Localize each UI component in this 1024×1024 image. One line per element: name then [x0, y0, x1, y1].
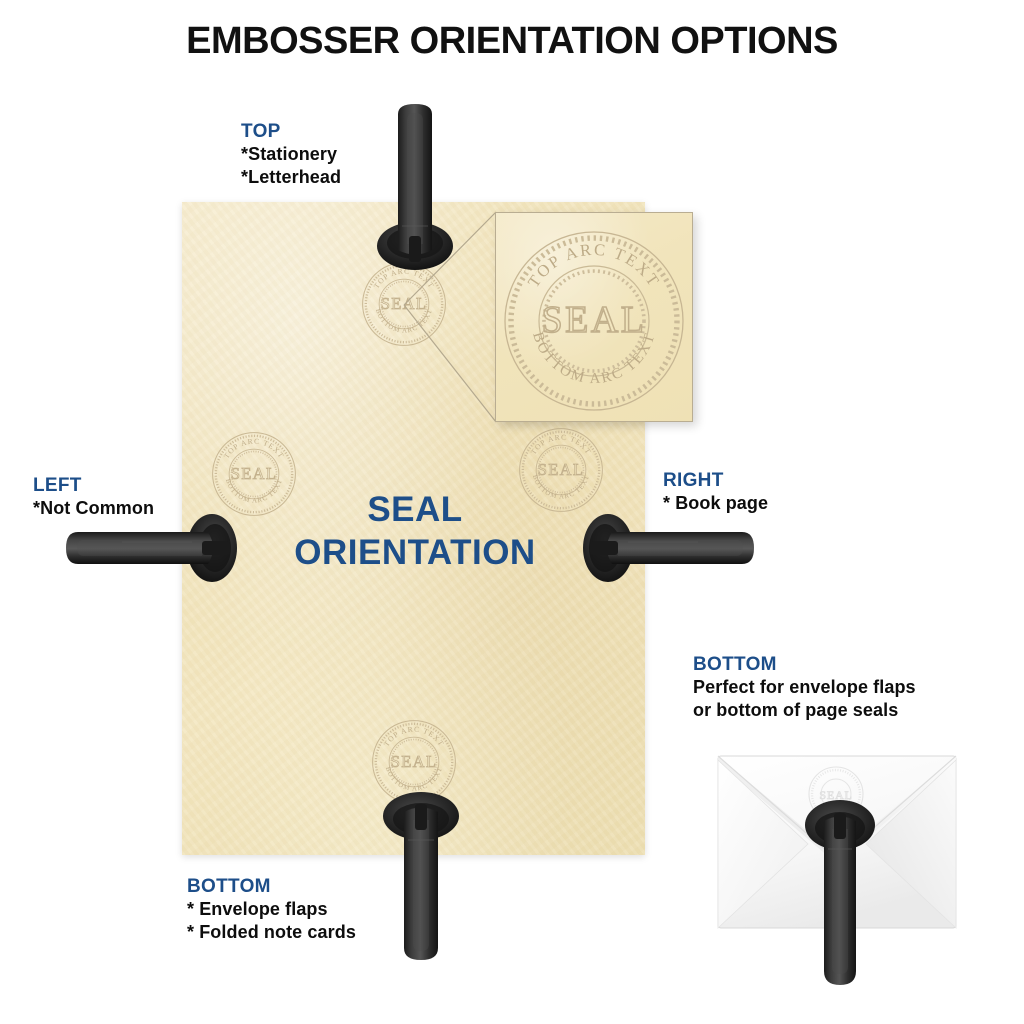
label-bottom-envelope-line-1: or bottom of page seals [693, 699, 916, 722]
label-left-line-0: *Not Common [33, 497, 154, 520]
label-top-line-0: *Stationery [241, 143, 341, 166]
center-heading: SEAL ORIENTATION [255, 488, 575, 575]
center-heading-line2: ORIENTATION [255, 531, 575, 574]
label-left: LEFT *Not Common [33, 475, 154, 520]
label-bottom-envelope-heading: BOTTOM [693, 654, 916, 676]
label-top-heading: TOP [241, 121, 341, 143]
envelope-icon: SEAL [716, 752, 958, 934]
label-bottom-paper-line-1: * Folded note cards [187, 921, 356, 944]
label-bottom-envelope: BOTTOM Perfect for envelope flaps or bot… [693, 654, 916, 722]
center-heading-line1: SEAL [255, 488, 575, 531]
label-top: TOP *Stationery *Letterhead [241, 121, 341, 189]
label-top-line-1: *Letterhead [241, 166, 341, 189]
label-left-heading: LEFT [33, 475, 154, 497]
label-bottom-paper: BOTTOM * Envelope flaps * Folded note ca… [187, 876, 356, 944]
label-right-line-0: * Book page [663, 492, 768, 515]
svg-text:SEAL: SEAL [819, 788, 852, 802]
page-title: EMBOSSER ORIENTATION OPTIONS [0, 20, 1024, 63]
infographic-canvas: EMBOSSER ORIENTATION OPTIONS TOP ARC TEX… [0, 0, 1024, 1024]
label-bottom-paper-line-0: * Envelope flaps [187, 898, 356, 921]
label-bottom-paper-heading: BOTTOM [187, 876, 356, 898]
label-bottom-envelope-line-0: Perfect for envelope flaps [693, 676, 916, 699]
label-right-heading: RIGHT [663, 470, 768, 492]
svg-text:SEAL: SEAL [542, 299, 647, 341]
label-right: RIGHT * Book page [663, 470, 768, 515]
magnified-seal-callout: TOP ARC TEXT BOTTOM ARC TEXT SEAL [495, 212, 693, 422]
